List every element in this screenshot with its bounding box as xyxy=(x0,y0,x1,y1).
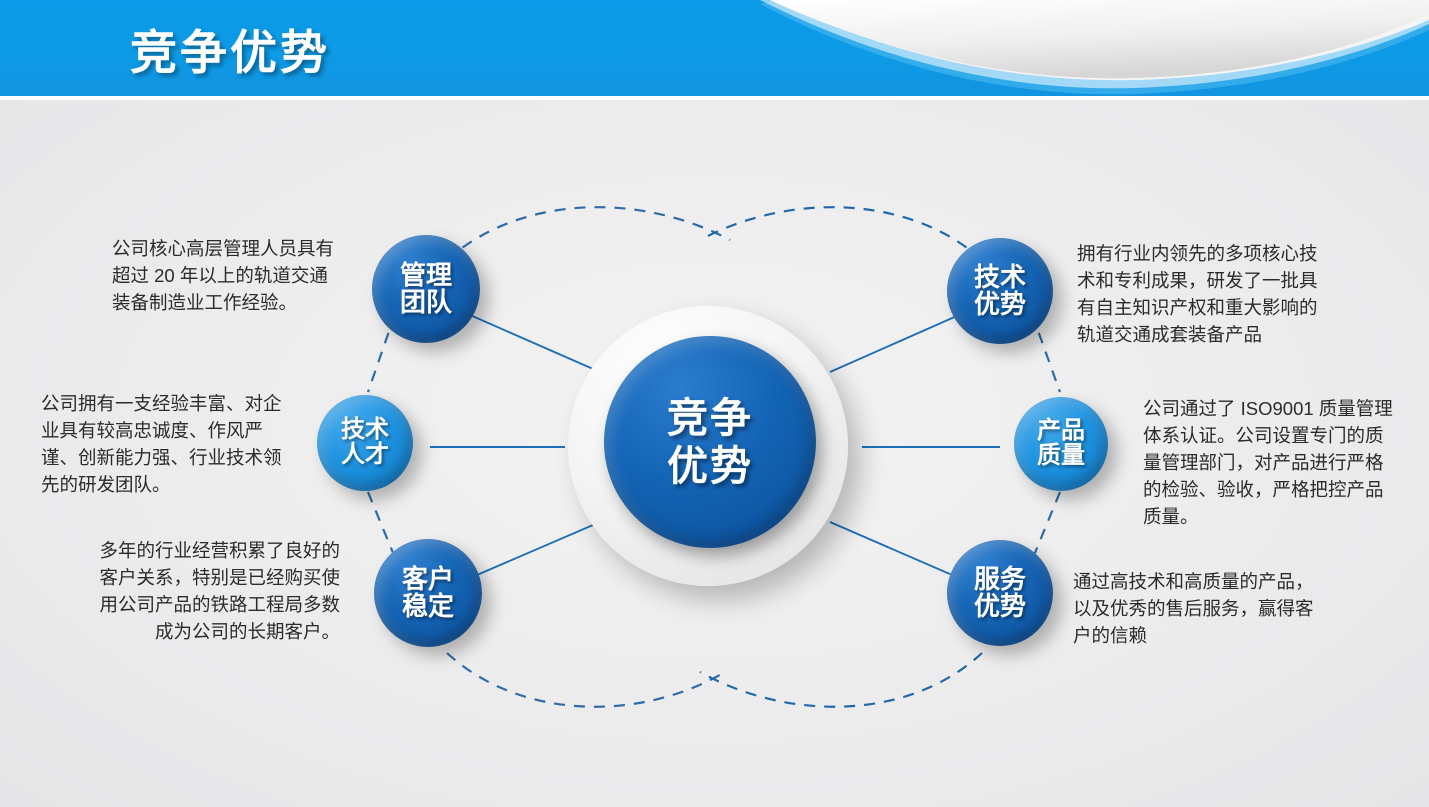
node-technology-advantage-line1: 技术 xyxy=(974,264,1026,291)
diagram-stage: 管理 团队 技术 人才 客户 稳定 技术 优势 产品 质量 服务 优势 竞争 优 xyxy=(0,100,1429,807)
node-product-quality-line1: 产品 xyxy=(1037,419,1085,444)
node-service-advantage[interactable]: 服务 优势 xyxy=(947,540,1053,646)
node-technical-talent-line1: 技术 xyxy=(341,418,389,443)
node-management-team[interactable]: 管理 团队 xyxy=(372,235,480,343)
node-service-advantage-line1: 服务 xyxy=(974,566,1026,593)
description-technical-talent: 公司拥有一支经验丰富、对企业具有较高忠诚度、作风严谨、创新能力强、行业技术领先的… xyxy=(41,390,291,498)
node-product-quality[interactable]: 产品 质量 xyxy=(1014,397,1108,491)
node-product-quality-line2: 质量 xyxy=(1037,444,1085,469)
node-customer-stability[interactable]: 客户 稳定 xyxy=(374,539,482,647)
node-management-team-line2: 团队 xyxy=(400,289,452,316)
spoke-mgmt xyxy=(470,315,600,372)
node-technical-talent[interactable]: 技术 人才 xyxy=(317,395,413,491)
description-management-team: 公司核心高层管理人员具有超过 20 年以上的轨道交通装备制造业工作经验。 xyxy=(112,235,344,316)
node-technical-talent-line2: 人才 xyxy=(341,443,389,468)
center-hub-line1: 竞争 xyxy=(667,394,753,442)
description-service-advantage: 通过高技术和高质量的产品，以及优秀的售后服务，赢得客户的信赖 xyxy=(1073,568,1323,649)
node-technology-advantage-line2: 优势 xyxy=(974,291,1026,318)
arc-top-right xyxy=(700,207,982,260)
node-management-team-line1: 管理 xyxy=(400,262,452,289)
slide-canvas: 竞争优势 xyxy=(0,0,1429,807)
header-bar: 竞争优势 xyxy=(0,0,1429,96)
node-customer-stability-line1: 客户 xyxy=(402,566,454,593)
description-customer-stability: 多年的行业经营积累了良好的客户关系，特别是已经购买使用公司产品的铁路工程局多数成… xyxy=(92,537,340,645)
description-technology-advantage: 拥有行业内领先的多项核心技术和专利成果，研发了一批具有自主知识产权和重大影响的轨… xyxy=(1077,240,1327,348)
node-service-advantage-line2: 优势 xyxy=(974,593,1026,620)
spoke-customer xyxy=(470,522,600,578)
arc-bottom-right xyxy=(700,653,982,707)
arc-top-left xyxy=(447,207,730,260)
spoke-tech xyxy=(830,315,959,372)
node-customer-stability-line2: 稳定 xyxy=(402,593,454,620)
center-hub-ring: 竞争 优势 xyxy=(568,306,848,586)
page-title: 竞争优势 xyxy=(130,14,330,83)
description-product-quality: 公司通过了 ISO9001 质量管理体系认证。公司设置专门的质量管理部门，对产品… xyxy=(1143,395,1394,530)
spoke-service xyxy=(830,522,959,578)
center-hub-core[interactable]: 竞争 优势 xyxy=(604,336,816,548)
node-technology-advantage[interactable]: 技术 优势 xyxy=(947,238,1053,344)
arc-bottom-left xyxy=(447,653,725,707)
center-hub-line2: 优势 xyxy=(667,442,753,490)
